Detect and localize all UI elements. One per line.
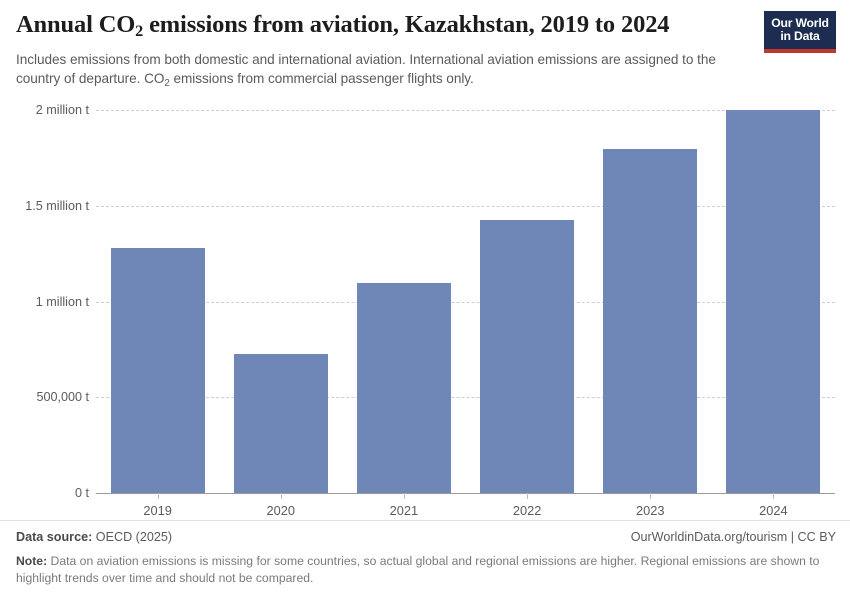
logo-line-2: in Data xyxy=(780,30,819,44)
x-axis-tick-mark xyxy=(404,493,405,499)
note-value: Data on aviation emissions is missing fo… xyxy=(16,554,819,585)
bar-2020[interactable] xyxy=(234,354,328,493)
chart-footer: Data source: OECD (2025) OurWorldinData.… xyxy=(0,520,850,600)
x-axis-tick-label-2024: 2024 xyxy=(759,503,787,518)
x-axis-tick-label-2022: 2022 xyxy=(513,503,541,518)
bar-2024[interactable] xyxy=(726,110,820,493)
logo-line-1: Our World xyxy=(771,17,829,31)
subtitle-part-2: emissions from commercial passenger flig… xyxy=(170,71,474,86)
x-axis-tick-mark xyxy=(527,493,528,499)
subtitle-subscript: 2 xyxy=(164,78,169,89)
title-subscript: 2 xyxy=(135,23,143,40)
x-axis-tick-mark xyxy=(158,493,159,499)
x-axis-tick-mark xyxy=(773,493,774,499)
x-axis-tick-label-2020: 2020 xyxy=(267,503,295,518)
title-prefix: Annual CO xyxy=(16,11,135,38)
bar-2022[interactable] xyxy=(480,220,574,493)
data-source-label: Data source: xyxy=(16,530,92,544)
chart-header: Annual CO2 emissions from aviation, Kaza… xyxy=(0,0,850,92)
bar-2019[interactable] xyxy=(111,248,205,493)
bar-2023[interactable] xyxy=(603,149,697,493)
chart-note: Note: Data on aviation emissions is miss… xyxy=(16,553,826,586)
bar-series xyxy=(0,92,850,520)
chart-plot-area: 0 t500,000 t1 million t1.5 million t2 mi… xyxy=(0,92,850,520)
page-title: Annual CO2 emissions from aviation, Kaza… xyxy=(16,10,836,43)
our-world-in-data-logo[interactable]: Our World in Data xyxy=(764,11,836,53)
footer-top-row: Data source: OECD (2025) OurWorldinData.… xyxy=(16,530,836,552)
x-axis-tick-label-2019: 2019 xyxy=(143,503,171,518)
bar-2021[interactable] xyxy=(357,283,451,493)
data-source-value: OECD (2025) xyxy=(92,530,172,544)
owid-url-license[interactable]: OurWorldinData.org/tourism | CC BY xyxy=(631,530,836,544)
chart-subtitle: Includes emissions from both domestic an… xyxy=(16,51,754,90)
x-axis-tick-mark xyxy=(650,493,651,499)
x-axis-tick-label-2023: 2023 xyxy=(636,503,664,518)
data-source: Data source: OECD (2025) xyxy=(16,530,172,544)
x-axis-tick-label-2021: 2021 xyxy=(390,503,418,518)
x-axis-tick-mark xyxy=(281,493,282,499)
note-label: Note: xyxy=(16,554,47,568)
title-suffix: emissions from aviation, Kazakhstan, 201… xyxy=(143,11,669,38)
